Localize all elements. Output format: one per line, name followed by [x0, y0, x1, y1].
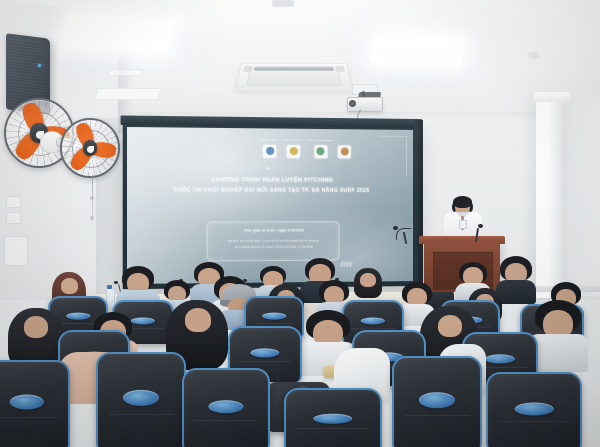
slide-subtitle: CUỘC THI KHỞI NGHIỆP ĐỔI MỚI SÁNG TẠO TP…: [127, 186, 413, 195]
seat-front-3: [284, 388, 382, 447]
microphone-head-right: [478, 224, 483, 228]
slide-corner-decoration: [379, 136, 408, 177]
projection-screen: BAN TỔ CHỨC ĐƠN VỊ TỔ CHỨC ĐƠN VỊ ĐỒNG H…: [123, 123, 418, 289]
slide-logo-row: BAN TỔ CHỨC ĐƠN VỊ TỔ CHỨC ĐƠN VỊ ĐỒNG H…: [261, 139, 351, 158]
conference-room-photo: BAN TỔ CHỨC ĐƠN VỊ TỔ CHỨC ĐƠN VỊ ĐỒNG H…: [0, 0, 600, 447]
slide-logo-item: ĐƠN VỊ ĐỒNG HÀNH: [309, 140, 333, 158]
presenter-badge: [459, 220, 467, 229]
column-cap: [534, 92, 570, 102]
cord-bead-2: [90, 216, 94, 220]
ceiling-light-panel-left: [58, 13, 176, 54]
wall-plate-2: [6, 212, 21, 224]
microphone-head-left: [393, 226, 398, 230]
bottle-cap-1: [107, 285, 112, 289]
ceiling-light-faint-1: [107, 69, 143, 76]
ceiling-fixture-small: [272, 0, 294, 7]
speaker-power-led: [38, 64, 41, 67]
wall-panel-left: [4, 236, 28, 266]
air-conditioner-icon: [235, 63, 354, 91]
right-wall: [566, 96, 600, 296]
slide-logo-caption: ĐƠN VỊ ĐỒNG HÀNH: [309, 140, 333, 143]
slide-logo-caption: BAN TỔ CHỨC: [261, 139, 278, 142]
logo-mark-icon: [317, 147, 325, 155]
slide-logo-item: BAN TỔ CHỨC: [261, 139, 278, 157]
wall-plate-1: [6, 196, 21, 208]
slide-logo-item: ĐƠN VỊ TỔ CHỨC: [283, 139, 303, 157]
attendee-back-6: [496, 256, 536, 302]
attendee-back-4: [354, 268, 382, 300]
screen-right-frame: [415, 120, 423, 292]
seat-front-6: [182, 368, 270, 447]
slide-logo-item: [338, 140, 351, 158]
projector-lens-icon: [349, 100, 356, 107]
ceiling-vent-panel: [94, 88, 161, 100]
seat-front-1: [0, 360, 70, 447]
slide-logo-box: [263, 144, 276, 157]
logo-mark-icon: [266, 147, 274, 155]
slide-logo-box: [338, 145, 351, 158]
slide-logo-box: [314, 145, 327, 158]
logo-mark-icon: [340, 147, 348, 155]
cord-bead-1: [90, 196, 94, 200]
logo-mark-icon: [290, 147, 298, 155]
slide-logo-box: [287, 144, 300, 157]
screen-glare-secondary: [273, 205, 413, 283]
seat-front-2: [96, 352, 186, 447]
slide-accent-dot: [267, 167, 269, 169]
slide-logo-caption: ĐƠN VỊ TỔ CHỨC: [283, 139, 303, 142]
structural-column: [536, 98, 566, 298]
wall-fan-icon-2: [60, 118, 116, 174]
ceiling-light-panel-right: [369, 34, 467, 65]
slide-title: CHƯƠNG TRÌNH HUẤN LUYỆN PITCHING: [127, 176, 413, 185]
seat-front-4: [392, 356, 482, 447]
smoke-detector-icon: [528, 52, 539, 58]
seat-front-5: [486, 372, 582, 447]
